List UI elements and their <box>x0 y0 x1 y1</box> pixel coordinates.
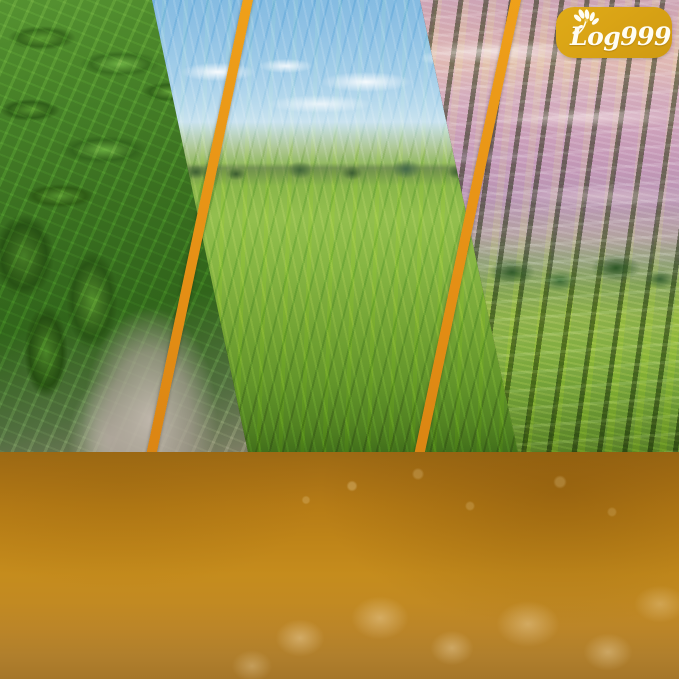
brand-logo-inner: Log999 <box>556 7 672 58</box>
photo-strip: Log999 <box>0 0 679 452</box>
brand-logo-prefix: L <box>570 22 587 51</box>
brand-logo-wordmark: Log999 <box>570 24 670 49</box>
brand-logo-badge[interactable]: Log999 <box>556 7 672 58</box>
product-infographic-poster: Log999 HOW WE GROW OUR NATURAL INGREDIEN… <box>0 0 679 679</box>
gold-message-banner: HOW WE GROW OUR NATURAL INGREDIENTS Grow… <box>0 452 679 679</box>
brand-logo-name: og999 <box>587 22 671 51</box>
